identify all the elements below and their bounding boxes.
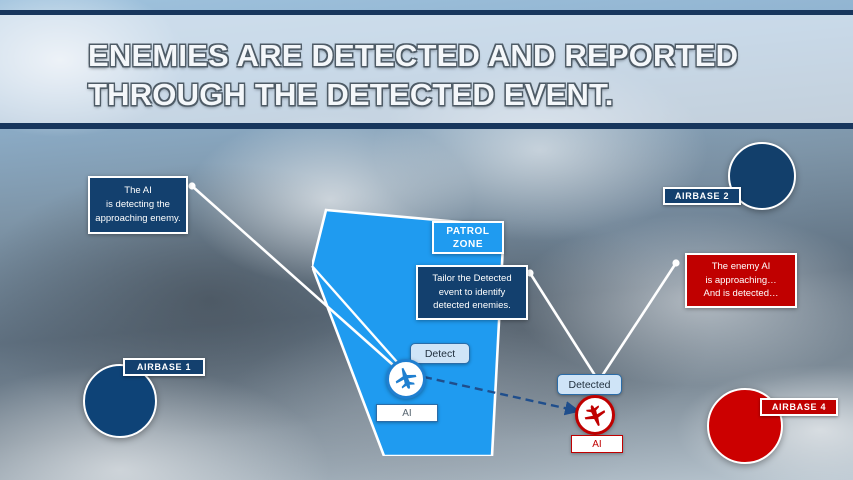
callout-line-2: is detecting the <box>106 198 170 212</box>
enemy-ai-unit-marker[interactable] <box>575 395 615 435</box>
enemy-ai-name-plate[interactable]: AI <box>571 435 623 453</box>
title-banner: ENEMIES ARE DETECTED AND REPORTED THROUG… <box>0 10 853 129</box>
callout-line-2: event to identify <box>439 286 506 300</box>
friendly-ai-unit-marker[interactable] <box>386 359 426 399</box>
callout-line-3: approaching enemy. <box>95 212 180 226</box>
connector-ai-detecting <box>192 186 401 372</box>
connector-endpoint-dot <box>188 182 195 189</box>
callout-line-1: The AI <box>124 184 151 198</box>
connector-endpoint-dot <box>672 259 679 266</box>
airbase-2-label[interactable]: AIRBASE 2 <box>663 187 741 205</box>
airbase-4-label[interactable]: AIRBASE 4 <box>760 398 838 416</box>
friendly-ai-name-plate[interactable]: AI <box>376 404 438 422</box>
zone-edge-line <box>312 266 405 371</box>
callout-line-1: Tailor the Detected <box>432 272 511 286</box>
patrol-zone-label-line2: ZONE <box>453 238 483 251</box>
patrol-zone-label-line1: PATROL <box>446 225 489 238</box>
slide-canvas: ENEMIES ARE DETECTED AND REPORTED THROUG… <box>0 0 853 480</box>
connector-tailor-detected <box>530 273 596 377</box>
callout-line-2: is approaching… <box>705 274 776 288</box>
callout-ai-detecting[interactable]: The AI is detecting the approaching enem… <box>88 176 188 234</box>
detection-ray-dashed <box>424 377 578 411</box>
connector-enemy-ai <box>600 263 676 379</box>
callout-line-3: And is detected… <box>704 287 779 301</box>
jet-fighter-icon <box>392 365 420 393</box>
callout-enemy-ai[interactable]: The enemy AI is approaching… And is dete… <box>685 253 797 308</box>
jet-fighter-icon <box>581 401 609 429</box>
callout-line-3: detected enemies. <box>433 299 511 313</box>
event-pill-detect[interactable]: Detect <box>410 343 470 364</box>
airbase-1-label[interactable]: AIRBASE 1 <box>123 358 205 376</box>
event-pill-detected[interactable]: Detected <box>557 374 622 395</box>
callout-tailor-detected-event[interactable]: Tailor the Detected event to identify de… <box>416 265 528 320</box>
patrol-zone-label[interactable]: PATROL ZONE <box>432 221 504 254</box>
page-title: ENEMIES ARE DETECTED AND REPORTED THROUG… <box>88 36 818 114</box>
callout-line-1: The enemy AI <box>712 260 771 274</box>
